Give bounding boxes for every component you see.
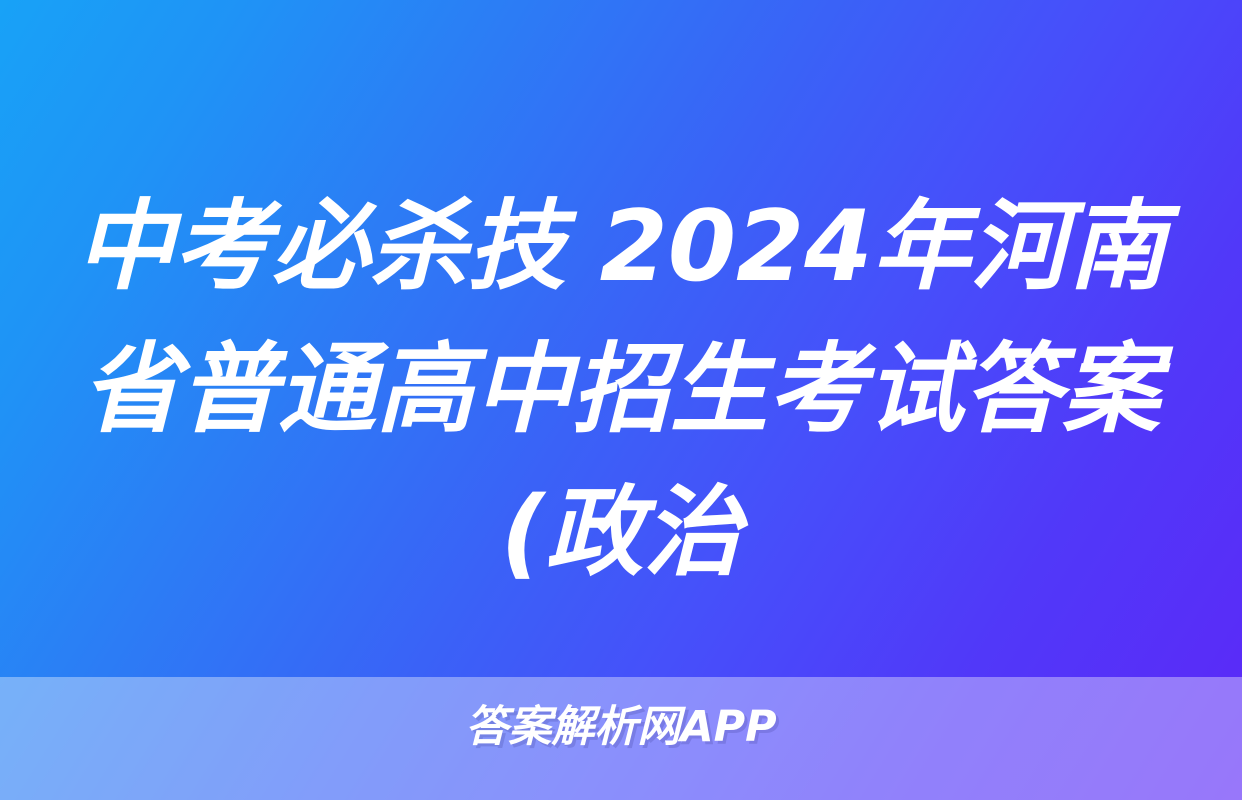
title-line-2: 省普通高中招生考试答案 — [40, 319, 1202, 462]
title-line-3: (政治 — [40, 462, 1202, 605]
watermark-app-name: 答案解析网APP — [0, 701, 1242, 753]
title-line-1: 中考必杀技 2024年河南 — [40, 176, 1202, 319]
banner-title: 中考必杀技 2024年河南 省普通高中招生考试答案 (政治 — [0, 176, 1242, 605]
promo-banner: 中考必杀技 2024年河南 省普通高中招生考试答案 (政治 答案解析网APP — [0, 0, 1242, 800]
